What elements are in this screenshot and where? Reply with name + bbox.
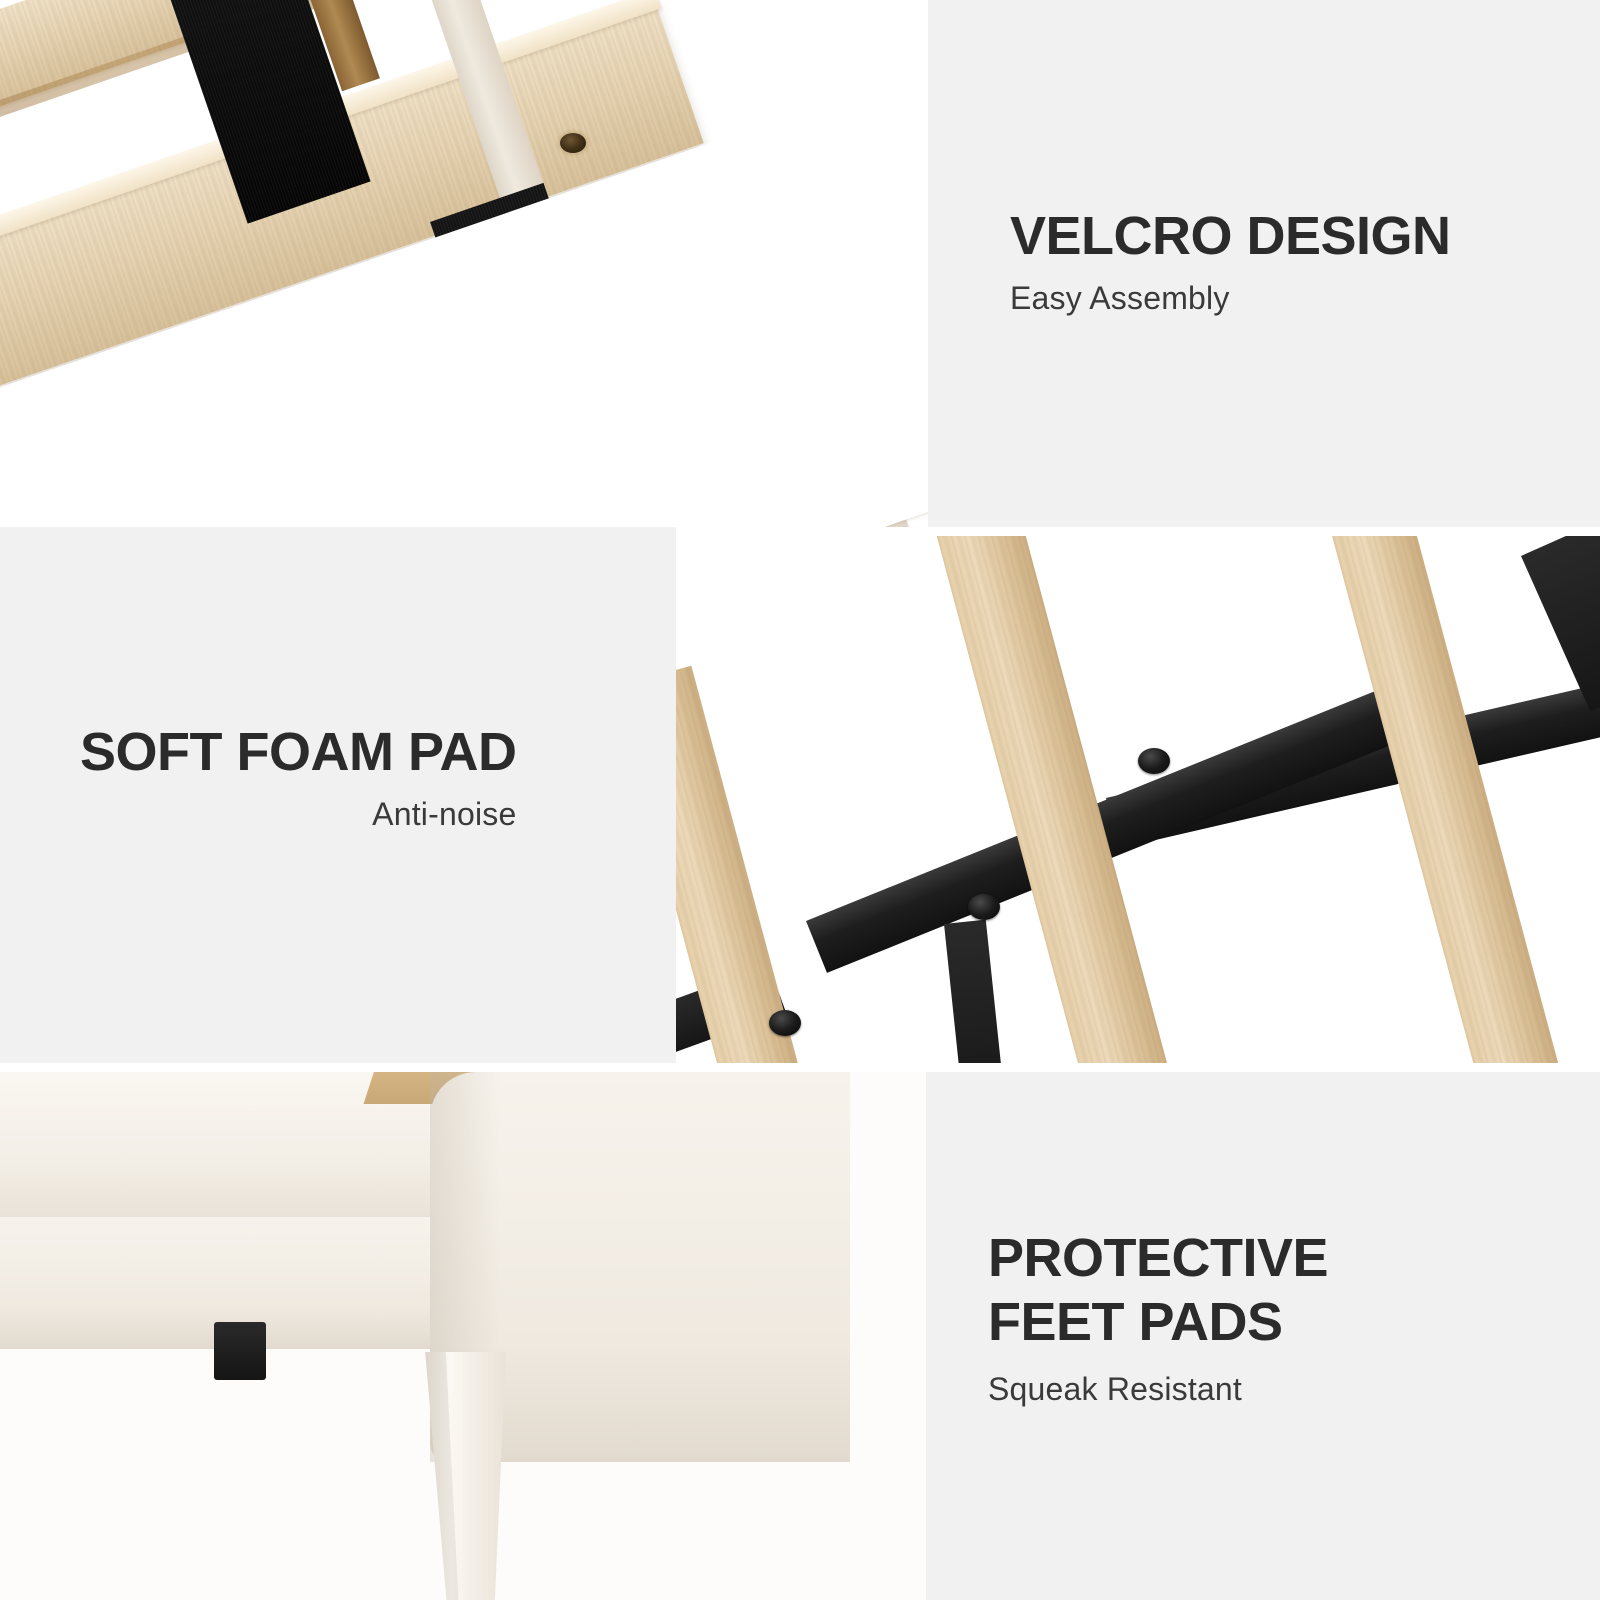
bolt-left-slat — [769, 1010, 801, 1036]
protective-feet-pads-headline-line1: PROTECTIVE — [988, 1228, 1328, 1288]
soft-foam-pad-headline: SOFT FOAM PAD — [80, 722, 516, 782]
bolt-center-slat — [1138, 748, 1170, 774]
metal-edge-right — [1521, 536, 1600, 711]
protective-feet-pads-headline-line2: FEET PADS — [988, 1292, 1328, 1352]
velcro-design-subline: Easy Assembly — [1010, 280, 1451, 317]
protective-feet-pads-photo-panel — [0, 1072, 926, 1600]
wood-slat-right — [1316, 536, 1566, 1063]
screw-upper — [560, 133, 586, 153]
soft-foam-pad-text-block: SOFT FOAM PAD Anti-noise — [80, 722, 516, 833]
protective-feet-pads-text-panel: PROTECTIVE FEET PADS Squeak Resistant — [926, 1072, 1600, 1600]
velcro-design-photo — [0, 0, 928, 527]
velcro-design-text-block: VELCRO DESIGN Easy Assembly — [1010, 206, 1451, 317]
velcro-design-text-panel: VELCRO DESIGN Easy Assembly — [928, 0, 1600, 527]
protective-feet-pads-subline: Squeak Resistant — [988, 1371, 1328, 1408]
metal-support-leg — [944, 920, 1007, 1063]
soft-foam-pad-text-panel: SOFT FOAM PAD Anti-noise — [0, 527, 676, 1063]
product-feature-infographic: VELCRO DESIGN Easy Assembly SOFT FOAM PA… — [0, 0, 1600, 1600]
velcro-design-photo-panel — [0, 0, 928, 527]
soft-foam-pad-photo — [676, 536, 1600, 1063]
soft-foam-pad-subline: Anti-noise — [80, 796, 516, 833]
protective-foot-bracket — [214, 1322, 266, 1380]
velcro-design-headline: VELCRO DESIGN — [1010, 206, 1451, 266]
protective-feet-pads-text-block: PROTECTIVE FEET PADS Squeak Resistant — [988, 1228, 1328, 1408]
bolt-metal-bar — [968, 894, 1000, 920]
protective-feet-pads-photo — [0, 1072, 926, 1600]
soft-foam-pad-photo-panel — [676, 536, 1600, 1063]
